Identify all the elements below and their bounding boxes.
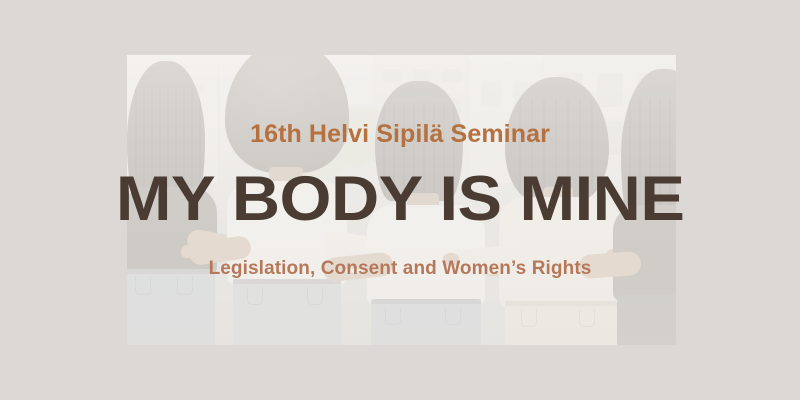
- banner-subtitle: Legislation, Consent and Women’s Rights: [209, 259, 592, 278]
- banner-headline: MY BODY IS MINE: [116, 168, 684, 231]
- banner-text-stack: 16th Helvi Sipilä Seminar MY BODY IS MIN…: [0, 0, 800, 400]
- seminar-promo-banner: 16th Helvi Sipilä Seminar MY BODY IS MIN…: [0, 0, 800, 400]
- seminar-edition-kicker: 16th Helvi Sipilä Seminar: [250, 122, 550, 147]
